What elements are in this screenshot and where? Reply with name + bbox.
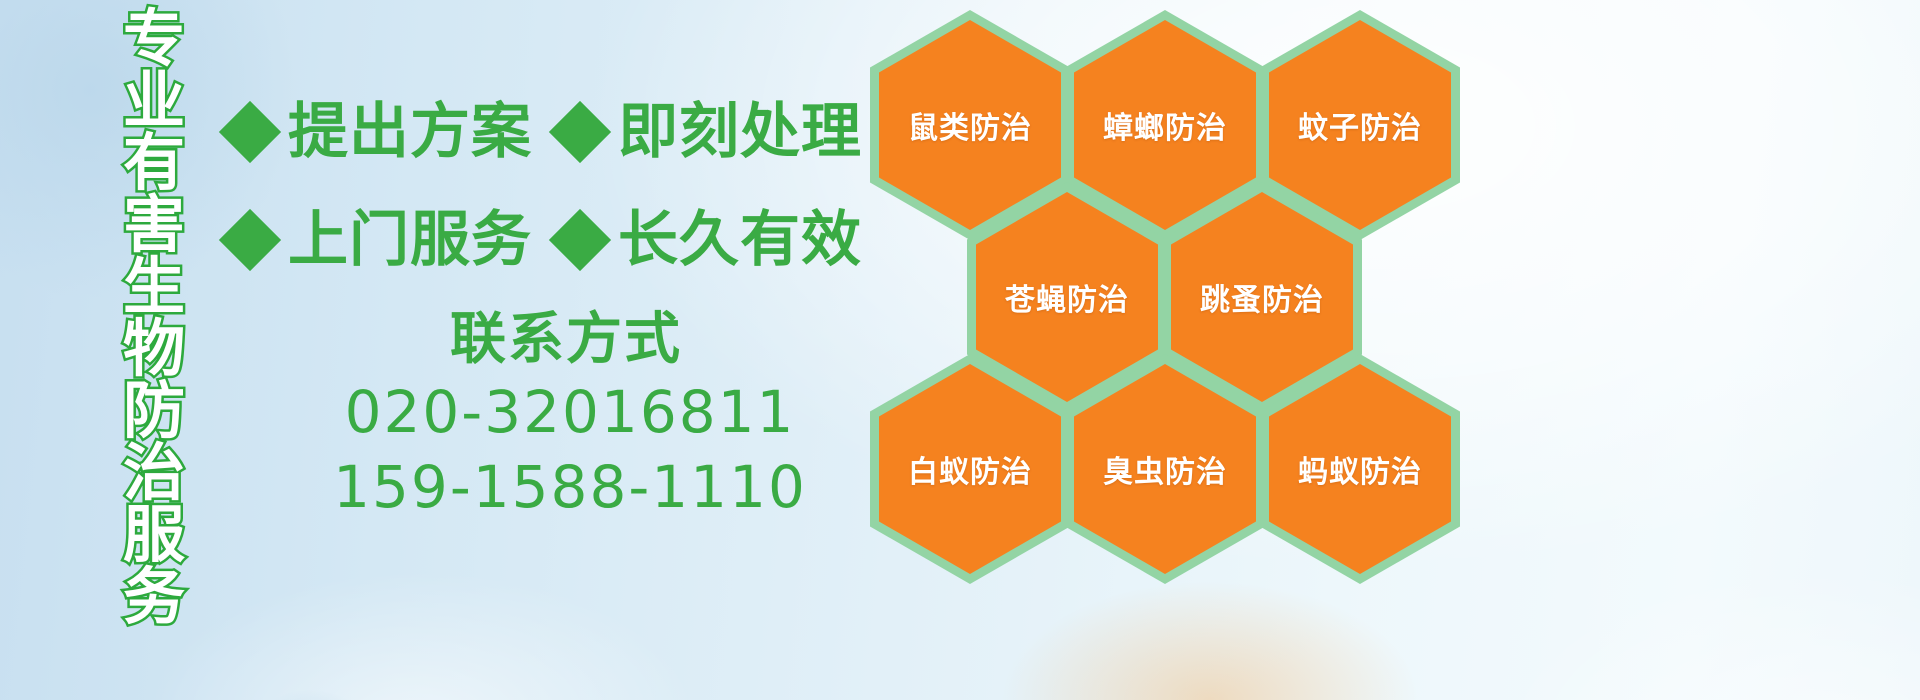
diamond-icon (219, 101, 281, 163)
hex-label: 蚂蚁防治 (1298, 447, 1422, 491)
vertical-headline: 专 业 有 害 生 物 防 治 服 务 (108, 8, 200, 570)
hex-label: 白蚁防治 (908, 447, 1032, 491)
background-bloom-bottomright (1500, 570, 1920, 700)
service-honeycomb: 鼠类防治 蟑螂防治 蚊子防治 苍蝇防治 跳蚤防治 白蚁防治 (862, 0, 1482, 700)
vertical-headline-char: 务 (123, 566, 185, 628)
vertical-headline-char: 业 (123, 70, 185, 132)
hex-label: 臭虫防治 (1103, 447, 1227, 491)
diamond-icon (549, 101, 611, 163)
hex-label: 蟑螂防治 (1103, 103, 1227, 147)
vertical-headline-char: 生 (123, 256, 185, 318)
feature-row: 提出方案 即刻处理 (228, 78, 868, 186)
feature-item-immediate-handling: 即刻处理 (558, 102, 862, 162)
vertical-headline-char: 害 (123, 194, 185, 256)
hex-label: 苍蝇防治 (1005, 275, 1129, 319)
vertical-headline-char: 物 (123, 318, 185, 380)
feature-item-onsite-service: 上门服务 (228, 210, 532, 270)
vertical-headline-char: 服 (123, 504, 185, 566)
hex-cell-termite-control[interactable]: 白蚁防治 (870, 354, 1070, 584)
hex-cell-bedbug-control[interactable]: 臭虫防治 (1065, 354, 1265, 584)
diamond-icon (219, 209, 281, 271)
hex-label: 鼠类防治 (908, 103, 1032, 147)
feature-row: 上门服务 长久有效 (228, 186, 868, 294)
feature-label: 提出方案 (288, 102, 532, 162)
contact-title: 联系方式 (242, 305, 890, 375)
vertical-headline-char: 防 (123, 380, 185, 442)
vertical-headline-char: 治 (123, 442, 185, 504)
promo-banner: 专 业 有 害 生 物 防 治 服 务 提出方案 即刻处理 上门服务 (0, 0, 1920, 700)
feature-label: 上门服务 (288, 210, 532, 270)
background-bloom-small (250, 690, 370, 700)
background-bloom-bottomleft (140, 570, 700, 700)
diamond-icon (549, 209, 611, 271)
vertical-headline-char: 专 (123, 8, 185, 70)
contact-phone-landline[interactable]: 020-32016811 (250, 375, 890, 450)
contact-phone-mobile[interactable]: 159-1588-1110 (250, 450, 890, 525)
hex-label: 蚊子防治 (1298, 103, 1422, 147)
hex-label: 跳蚤防治 (1200, 275, 1324, 319)
feature-list: 提出方案 即刻处理 上门服务 长久有效 (228, 78, 868, 294)
feature-item-propose-plan: 提出方案 (228, 102, 532, 162)
feature-label: 长久有效 (618, 210, 862, 270)
vertical-headline-char: 有 (123, 132, 185, 194)
contact-block: 联系方式 020-32016811 159-1588-1110 (250, 305, 890, 526)
feature-label: 即刻处理 (618, 102, 862, 162)
feature-item-long-lasting: 长久有效 (558, 210, 862, 270)
hex-cell-ant-control[interactable]: 蚂蚁防治 (1260, 354, 1460, 584)
